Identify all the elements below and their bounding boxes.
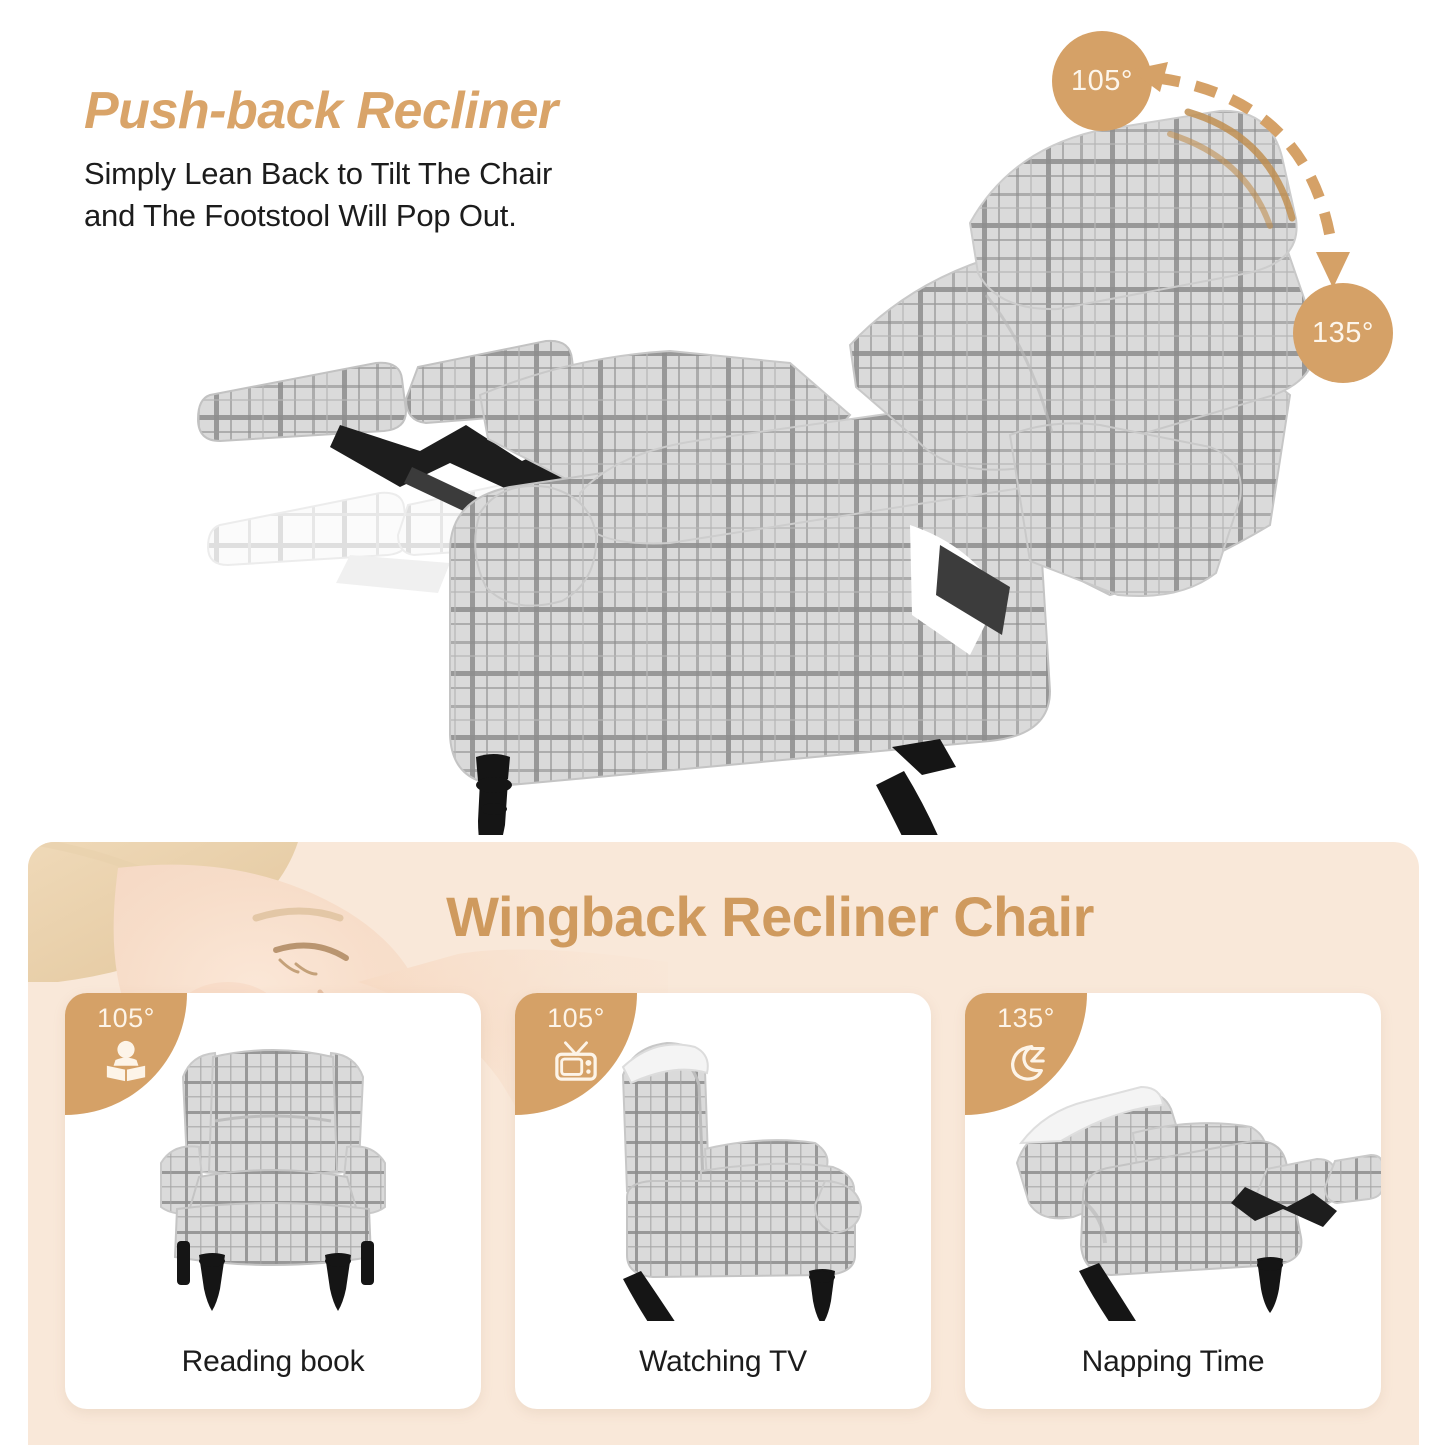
chair-reclined-view-image [965, 1021, 1381, 1321]
chair-side-view-image [515, 1021, 931, 1321]
scene-cards-row: 105° [65, 993, 1381, 1409]
recline-arc-arrow-icon [1120, 30, 1420, 330]
scene-card-reading[interactable]: 105° [65, 993, 481, 1409]
hero-section: Push-back Recliner Simply Lean Back to T… [0, 0, 1445, 842]
panel-title: Wingback Recliner Chair [330, 884, 1210, 949]
scene-card-tv[interactable]: 105° [515, 993, 931, 1409]
chair-front-view-image [65, 1021, 481, 1321]
card-label-tv: Watching TV [515, 1345, 931, 1379]
scene-card-napping[interactable]: 135° [965, 993, 1381, 1409]
card-label-napping: Napping Time [965, 1345, 1381, 1379]
card-label-reading: Reading book [65, 1345, 481, 1379]
